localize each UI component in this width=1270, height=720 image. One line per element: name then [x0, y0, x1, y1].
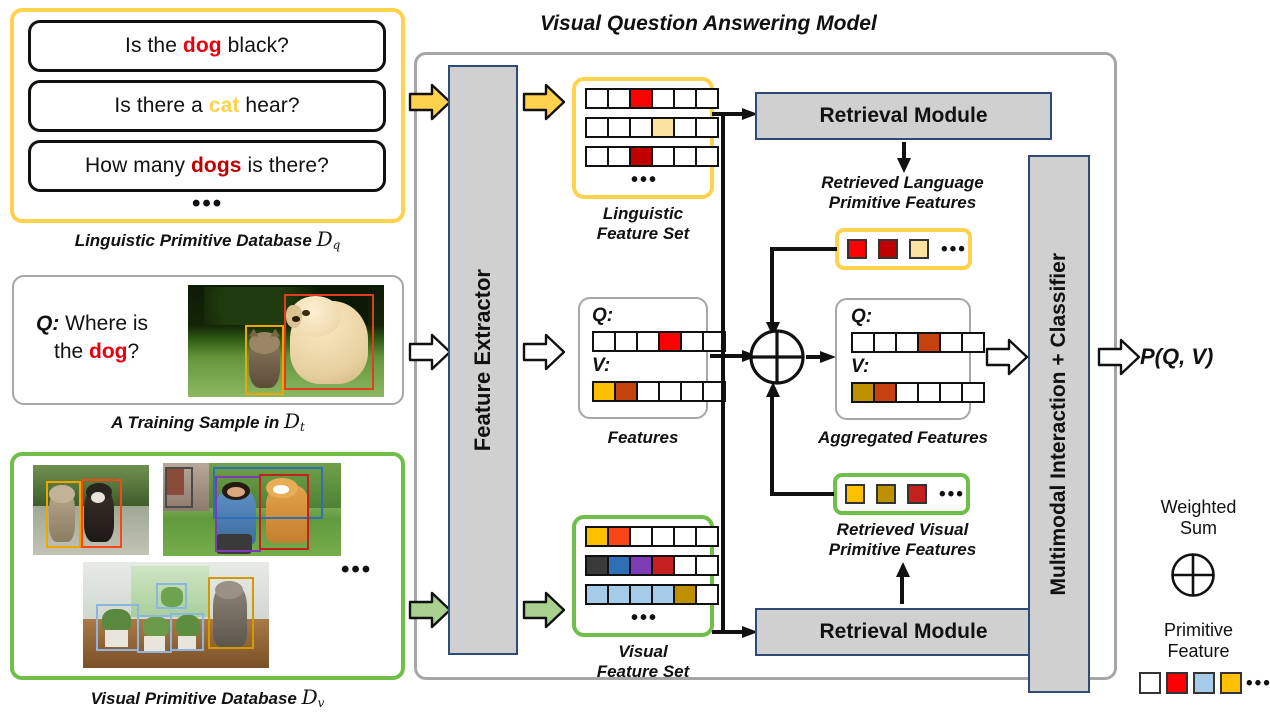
feature-cell-1 [609, 557, 631, 574]
feature-cell-4 [675, 119, 697, 136]
feature-cell-0 [587, 557, 609, 574]
feature-cell-4 [675, 557, 697, 574]
visual-db-caption: Visual Primitive Database Dv [10, 686, 405, 710]
feature-cell-1 [609, 148, 631, 165]
retrieval-module-top[interactable]: Retrieval Module [755, 92, 1052, 140]
visual-row-1 [585, 555, 719, 576]
question-item-0[interactable]: Is the dog black? [28, 20, 386, 72]
feature-cell-2 [638, 333, 660, 350]
feature-cell-2 [638, 383, 660, 400]
connector-trunk [721, 112, 725, 634]
feature-cell-1 [609, 528, 631, 545]
bbox-plant-d [156, 583, 188, 608]
feature-cell-0 [594, 383, 616, 400]
feature-cell-4 [682, 383, 704, 400]
feature-cell-3 [660, 383, 682, 400]
visual-feature-set-caption: Visual Feature Set [568, 642, 718, 682]
legend-primitive-feature-label: Primitive Feature [1136, 620, 1261, 661]
mathcal-d-q: Dq [317, 227, 341, 251]
features-v-label: V: [592, 355, 610, 377]
retrieved-visual-caption: Retrieved Visual Primitive Features [800, 520, 1005, 560]
retrieved-language-ellipsis: ••• [941, 240, 967, 259]
features-v-row [592, 381, 726, 402]
arrow-sample-to-extractor [408, 332, 452, 372]
feature-cell-3 [919, 384, 941, 401]
legend-weighted-sum-label: Weighted Sum [1136, 497, 1261, 538]
visual-db-image-0 [33, 465, 149, 555]
retrieved-language-swatch-1 [878, 239, 898, 259]
legend-swatch-3 [1220, 672, 1242, 694]
linguistic-feature-set-caption: Linguistic Feature Set [568, 204, 718, 244]
feature-cell-5 [697, 557, 717, 574]
feature-cell-2 [631, 90, 653, 107]
linguistic-row-2 [585, 146, 719, 167]
feature-cell-5 [697, 586, 717, 603]
feature-cell-0 [587, 528, 609, 545]
legend-ellipsis: ••• [1246, 674, 1270, 693]
bbox-dog-0 [81, 479, 123, 547]
multimodal-classifier-label: Multimodal Interaction + Classifier [1047, 253, 1071, 596]
feature-cell-2 [631, 148, 653, 165]
feature-cell-5 [697, 119, 717, 136]
retrieved-visual-swatch-0 [845, 484, 865, 504]
feature-cell-2 [631, 557, 653, 574]
question-text-2: How many dogs is there? [85, 154, 329, 178]
arrow-visualdb-to-extractor [408, 590, 452, 630]
retrieval-bottom-up-line [900, 574, 904, 604]
elbow-rv-vertical [770, 395, 774, 495]
linguistic-db-caption: Linguistic Primitive Database Dq [10, 228, 405, 252]
bbox-cat-2 [208, 577, 255, 649]
legend-swatch-1 [1166, 672, 1188, 694]
feature-cell-5 [963, 384, 983, 401]
visual-row-2 [585, 584, 719, 605]
retrieval-module-top-label: Retrieval Module [819, 104, 987, 128]
feature-cell-3 [653, 557, 675, 574]
feature-cell-0 [853, 384, 875, 401]
question-text-0: Is the dog black? [125, 34, 289, 58]
arrow-extractor-to-visual-set [522, 590, 566, 630]
bbox-plant-b [137, 615, 172, 653]
linguistic-db-ellipsis: ••• [192, 192, 223, 216]
bbox-cat-0 [46, 481, 81, 548]
linguistic-row-1 [585, 117, 719, 138]
feature-cell-1 [609, 90, 631, 107]
legend-circled-plus-icon [1170, 552, 1216, 598]
feature-extractor-label: Feature Extractor [470, 269, 496, 451]
feature-cell-3 [653, 586, 675, 603]
feature-cell-1 [609, 119, 631, 136]
aggregated-v-label: V: [851, 356, 869, 378]
linguistic-feature-set-ellipsis: ••• [631, 170, 658, 190]
feature-extractor-block[interactable]: Feature Extractor [448, 65, 518, 655]
feature-cell-0 [587, 119, 609, 136]
question-item-2[interactable]: How many dogs is there? [28, 140, 386, 192]
feature-cell-0 [587, 148, 609, 165]
feature-cell-5 [697, 148, 717, 165]
feature-cell-2 [897, 334, 919, 351]
feature-cell-4 [675, 148, 697, 165]
feature-cell-4 [675, 90, 697, 107]
legend-swatch-2 [1193, 672, 1215, 694]
feature-cell-4 [675, 586, 697, 603]
question-text-1: Is there a cat hear? [114, 94, 299, 118]
feature-cell-3 [660, 333, 682, 350]
feature-cell-2 [897, 384, 919, 401]
elbow-rl-vertical [770, 247, 774, 325]
training-sample-question: Q: Where is the dog? [36, 310, 196, 367]
feature-cell-3 [653, 148, 675, 165]
feature-cell-4 [675, 528, 697, 545]
question-item-1[interactable]: Is there a cat hear? [28, 80, 386, 132]
feature-cell-2 [631, 119, 653, 136]
feature-cell-0 [587, 90, 609, 107]
arrowhead-retrieval-bottom-up [894, 562, 912, 578]
arrowhead-rv-into-plus [764, 382, 782, 398]
feature-cell-1 [875, 334, 897, 351]
training-sample-caption: A Training Sample in Dt [12, 410, 404, 434]
bbox-cat [245, 325, 284, 394]
elbow-rv-horizontal [770, 492, 834, 496]
bbox-person-1 [215, 476, 261, 552]
feature-cell-2 [631, 586, 653, 603]
aggregated-features-caption: Aggregated Features [800, 428, 1006, 448]
bbox-dog [284, 294, 374, 390]
arrow-aggregated-to-classifier [985, 337, 1029, 377]
features-q-row [592, 331, 726, 352]
bbox-plant-a [96, 604, 139, 651]
retrieval-module-bottom[interactable]: Retrieval Module [755, 608, 1052, 656]
feature-cell-5 [697, 90, 717, 107]
feature-cell-3 [653, 528, 675, 545]
retrieved-visual-ellipsis: ••• [939, 485, 965, 504]
retrieved-language-swatch-2 [909, 239, 929, 259]
aggregated-q-row [851, 332, 985, 353]
elbow-rl-horizontal [770, 247, 837, 251]
feature-cell-3 [653, 90, 675, 107]
output-label: P(Q, V) [1140, 344, 1213, 370]
feature-cell-2 [631, 528, 653, 545]
arrow-linguistic-to-extractor [408, 82, 452, 122]
retrieved-language-caption: Retrieved Language Primitive Features [800, 173, 1005, 213]
feature-cell-3 [653, 119, 675, 136]
aggregated-v-row [851, 382, 985, 403]
page-title: Visual Question Answering Model [540, 12, 877, 36]
feature-cell-1 [616, 333, 638, 350]
aggregated-q-label: Q: [851, 306, 872, 328]
visual-db-image-2 [83, 562, 269, 668]
feature-cell-5 [697, 528, 717, 545]
arrow-extractor-to-linguistic-set [522, 82, 566, 122]
linguistic-row-0 [585, 88, 719, 109]
feature-cell-4 [682, 333, 704, 350]
retrieved-visual-swatch-1 [876, 484, 896, 504]
arrowhead-retrieval-top-down [895, 158, 913, 174]
q-label: Q: [36, 312, 59, 335]
feature-cell-5 [963, 334, 983, 351]
bbox-dog-1 [259, 474, 309, 550]
multimodal-classifier-block[interactable]: Multimodal Interaction + Classifier [1028, 155, 1090, 693]
feature-cell-4 [941, 334, 963, 351]
feature-cell-0 [853, 334, 875, 351]
feature-cell-3 [919, 334, 941, 351]
bbox-plant-c [170, 613, 203, 651]
training-sample-image [188, 285, 384, 397]
retrieved-language-swatch-0 [847, 239, 867, 259]
visual-feature-set-ellipsis: ••• [631, 608, 658, 628]
retrieved-visual-swatch-2 [907, 484, 927, 504]
weighted-sum-operator [748, 328, 806, 386]
features-q-label: Q: [592, 305, 613, 327]
feature-cell-4 [941, 384, 963, 401]
mathcal-d-v: Dv [302, 685, 325, 709]
visual-db-image-1 [163, 463, 341, 556]
bbox-wall-1 [165, 467, 193, 508]
visual-row-0 [585, 526, 719, 547]
feature-cell-1 [609, 586, 631, 603]
arrow-extractor-to-features [522, 332, 566, 372]
mathcal-d-t: Dt [284, 409, 305, 433]
features-caption: Features [578, 428, 708, 448]
feature-cell-1 [875, 384, 897, 401]
retrieval-module-bottom-label: Retrieval Module [819, 620, 987, 644]
arrow-classifier-to-output [1097, 337, 1141, 377]
legend-swatch-0 [1139, 672, 1161, 694]
visual-db-ellipsis: ••• [341, 558, 372, 582]
feature-cell-0 [594, 333, 616, 350]
feature-cell-1 [616, 383, 638, 400]
feature-cell-0 [587, 586, 609, 603]
